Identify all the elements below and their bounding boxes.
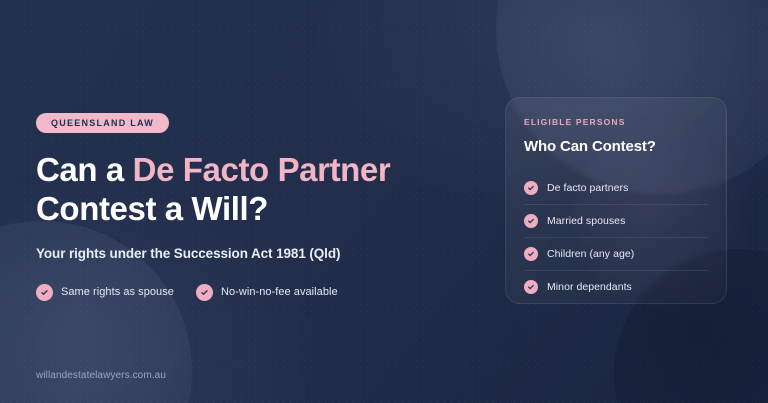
- headline-line2: Contest a Will?: [36, 190, 268, 227]
- promo-banner: QUEENSLAND LAW Can a De Facto PartnerCon…: [0, 0, 768, 403]
- page-title: Can a De Facto PartnerContest a Will?: [36, 150, 466, 229]
- list-item-label: Minor dependants: [547, 281, 632, 293]
- headline-line1-plain: Can a: [36, 151, 133, 188]
- list-item-label: Married spouses: [547, 215, 625, 227]
- feature-item: No-win-no-fee available: [196, 284, 338, 301]
- feature-label: No-win-no-fee available: [221, 286, 338, 298]
- eligible-persons-card: ELIGIBLE PERSONS Who Can Contest? De fac…: [505, 97, 727, 304]
- list-item-label: De facto partners: [547, 182, 628, 194]
- list-item-label: Children (any age): [547, 248, 634, 260]
- headline-line1-accent: De Facto Partner: [133, 151, 391, 188]
- check-circle-icon: [524, 214, 538, 228]
- list-item: Children (any age): [524, 238, 708, 271]
- website-url: willandestatelawyers.com.au: [36, 370, 166, 381]
- check-circle-icon: [524, 181, 538, 195]
- eligible-persons-list: De facto partners Married spouses Childr…: [524, 172, 708, 303]
- list-item: Married spouses: [524, 205, 708, 238]
- subheadline: Your rights under the Succession Act 198…: [36, 246, 466, 261]
- category-badge: QUEENSLAND LAW: [36, 113, 169, 133]
- hero-content: QUEENSLAND LAW Can a De Facto PartnerCon…: [36, 113, 466, 301]
- check-circle-icon: [524, 247, 538, 261]
- card-eyebrow: ELIGIBLE PERSONS: [524, 118, 708, 127]
- feature-list: Same rights as spouse No-win-no-fee avai…: [36, 284, 466, 301]
- list-item: De facto partners: [524, 172, 708, 205]
- list-item: Minor dependants: [524, 271, 708, 303]
- card-title: Who Can Contest?: [524, 138, 708, 155]
- check-circle-icon: [196, 284, 213, 301]
- feature-item: Same rights as spouse: [36, 284, 174, 301]
- feature-label: Same rights as spouse: [61, 286, 174, 298]
- check-circle-icon: [524, 280, 538, 294]
- check-circle-icon: [36, 284, 53, 301]
